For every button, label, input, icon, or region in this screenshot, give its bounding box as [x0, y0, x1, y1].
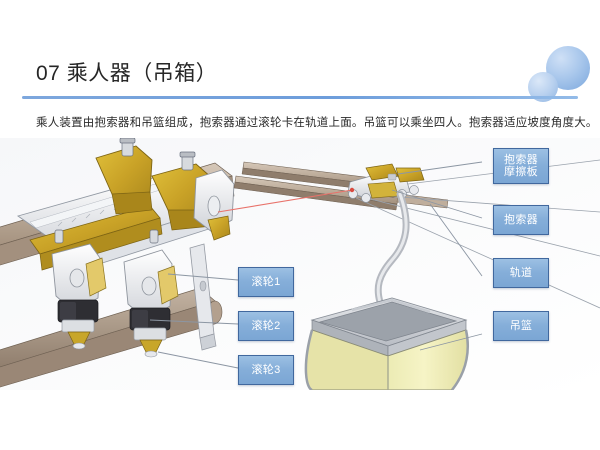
callout-roller-3[interactable]: 滚轮3 — [238, 355, 294, 385]
page-title: 07 乘人器（吊箱） — [36, 57, 217, 87]
title-divider — [22, 96, 578, 99]
callout-friction-plate[interactable]: 抱索器 摩擦板 — [493, 148, 549, 184]
callout-roller-1[interactable]: 滚轮1 — [238, 267, 294, 297]
highlight-endpoint-marker — [350, 188, 354, 192]
callout-roller-1-label: 滚轮1 — [251, 276, 280, 288]
callout-roller-2-label: 滚轮2 — [251, 320, 280, 332]
callout-cabin-label: 吊篮 — [510, 320, 533, 332]
callout-roller-2[interactable]: 滚轮2 — [238, 311, 294, 341]
slide-subtitle: 乘人装置由抱索器和吊篮组成，抱索器通过滚轮卡在轨道上面。吊篮可以乘坐四人。抱索器… — [36, 114, 598, 130]
callout-track[interactable]: 轨道 — [493, 258, 549, 288]
callout-grip-label: 抱索器 — [504, 214, 538, 226]
callout-friction-plate-line1: 抱索器 — [504, 154, 538, 166]
callout-cabin[interactable]: 吊篮 — [493, 311, 549, 341]
callout-track-label: 轨道 — [510, 267, 533, 279]
callout-friction-plate-line2: 摩擦板 — [504, 166, 538, 178]
callout-grip[interactable]: 抱索器 — [493, 205, 549, 235]
slide-canvas: 07 乘人器（吊箱） 乘人装置由抱索器和吊篮组成，抱索器通过滚轮卡在轨道上面。吊… — [0, 0, 600, 450]
decorative-circles — [524, 44, 594, 110]
callout-roller-3-label: 滚轮3 — [251, 364, 280, 376]
